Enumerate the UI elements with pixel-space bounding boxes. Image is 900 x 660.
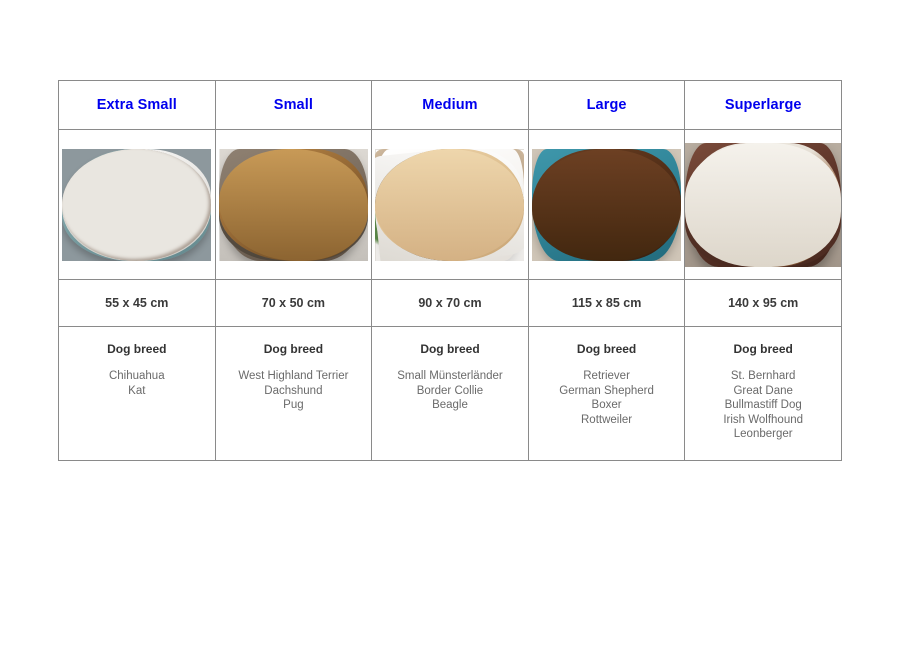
product-photo-extra-small [62,149,211,261]
breed-label-superlarge: Dog breed [685,343,841,355]
product-photo-medium [375,149,524,261]
breed-item: Bullmastiff Dog [685,398,841,413]
photo-wrap-superlarge [685,130,841,279]
image-cell-extra-small [59,130,216,280]
header-cell-superlarge: Superlarge [685,81,842,130]
breeds-cell-superlarge: Dog breed St. Bernhard Great Dane Bullma… [685,327,842,461]
breed-item: Border Collie [372,384,528,399]
dimensions-cell-medium: 90 x 70 cm [372,280,529,327]
breed-label-extra-small: Dog breed [59,343,215,355]
breed-block: Dog breed Retriever German Shepherd Boxe… [529,327,685,427]
breed-block: Dog breed St. Bernhard Great Dane Bullma… [685,327,841,442]
size-name-large: Large [529,98,685,113]
breed-list-medium: Small Münsterländer Border Collie Beagle [372,369,528,413]
image-cell-superlarge [685,130,842,280]
breeds-cell-large: Dog breed Retriever German Shepherd Boxe… [528,327,685,461]
product-photo-small [219,149,368,261]
header-cell-small: Small [215,81,372,130]
page-canvas: Extra Small Small Medium Large Superlarg… [0,0,900,660]
breed-item: St. Bernhard [685,369,841,384]
breed-item: Great Dane [685,384,841,399]
photo-dog-head [532,149,681,261]
photo-wrap-extra-small [59,130,215,279]
dog-bed-size-table: Extra Small Small Medium Large Superlarg… [58,80,842,461]
breed-item: Small Münsterländer [372,369,528,384]
breed-item: Beagle [372,398,528,413]
product-photo-large [532,149,681,261]
table-image-row [59,130,842,280]
breed-item: Chihuahua [59,369,215,384]
breed-block: Dog breed West Highland Terrier Dachshun… [216,327,372,413]
photo-dog-paw [685,143,841,267]
header-cell-large: Large [528,81,685,130]
dimensions-cell-small: 70 x 50 cm [215,280,372,327]
breed-item: Boxer [529,398,685,413]
size-name-superlarge: Superlarge [685,98,841,113]
photo-wrap-medium [372,130,528,279]
breed-label-large: Dog breed [529,343,685,355]
photo-cat-head [62,149,211,261]
header-cell-medium: Medium [372,81,529,130]
dimensions-cell-extra-small: 55 x 45 cm [59,280,216,327]
breed-item: West Highland Terrier [216,369,372,384]
breed-label-medium: Dog breed [372,343,528,355]
breed-item: Dachshund [216,384,372,399]
size-name-medium: Medium [372,98,528,113]
size-name-extra-small: Extra Small [59,98,215,113]
breed-list-extra-small: Chihuahua Kat [59,369,215,398]
table-dimensions-row: 55 x 45 cm 70 x 50 cm 90 x 70 cm 115 x 8… [59,280,842,327]
breed-block: Dog breed Chihuahua Kat [59,327,215,398]
dimensions-medium: 90 x 70 cm [372,297,528,310]
table-header-row: Extra Small Small Medium Large Superlarg… [59,81,842,130]
breed-item: Kat [59,384,215,399]
breed-item: Pug [216,398,372,413]
header-cell-extra-small: Extra Small [59,81,216,130]
dimensions-large: 115 x 85 cm [529,297,685,310]
image-cell-medium [372,130,529,280]
dimensions-small: 70 x 50 cm [216,297,372,310]
breed-list-small: West Highland Terrier Dachshund Pug [216,369,372,413]
breed-item: Leonberger [685,427,841,442]
breed-item: Retriever [529,369,685,384]
breed-list-superlarge: St. Bernhard Great Dane Bullmastiff Dog … [685,369,841,442]
dimensions-cell-superlarge: 140 x 95 cm [685,280,842,327]
breeds-cell-medium: Dog breed Small Münsterländer Border Col… [372,327,529,461]
dimensions-extra-small: 55 x 45 cm [59,297,215,310]
breeds-cell-extra-small: Dog breed Chihuahua Kat [59,327,216,461]
breed-block: Dog breed Small Münsterländer Border Col… [372,327,528,413]
breed-item: Rottweiler [529,413,685,428]
image-cell-large [528,130,685,280]
product-photo-superlarge [685,143,841,267]
breed-list-large: Retriever German Shepherd Boxer Rottweil… [529,369,685,427]
dimensions-cell-large: 115 x 85 cm [528,280,685,327]
image-cell-small [215,130,372,280]
photo-dog-head [375,149,524,261]
breeds-cell-small: Dog breed West Highland Terrier Dachshun… [215,327,372,461]
photo-wrap-large [529,130,685,279]
photo-wrap-small [216,130,372,279]
breed-label-small: Dog breed [216,343,372,355]
table-breeds-row: Dog breed Chihuahua Kat Dog breed West H… [59,327,842,461]
breed-item: Irish Wolfhound [685,413,841,428]
breed-item: German Shepherd [529,384,685,399]
size-name-small: Small [216,98,372,113]
dimensions-superlarge: 140 x 95 cm [685,297,841,310]
